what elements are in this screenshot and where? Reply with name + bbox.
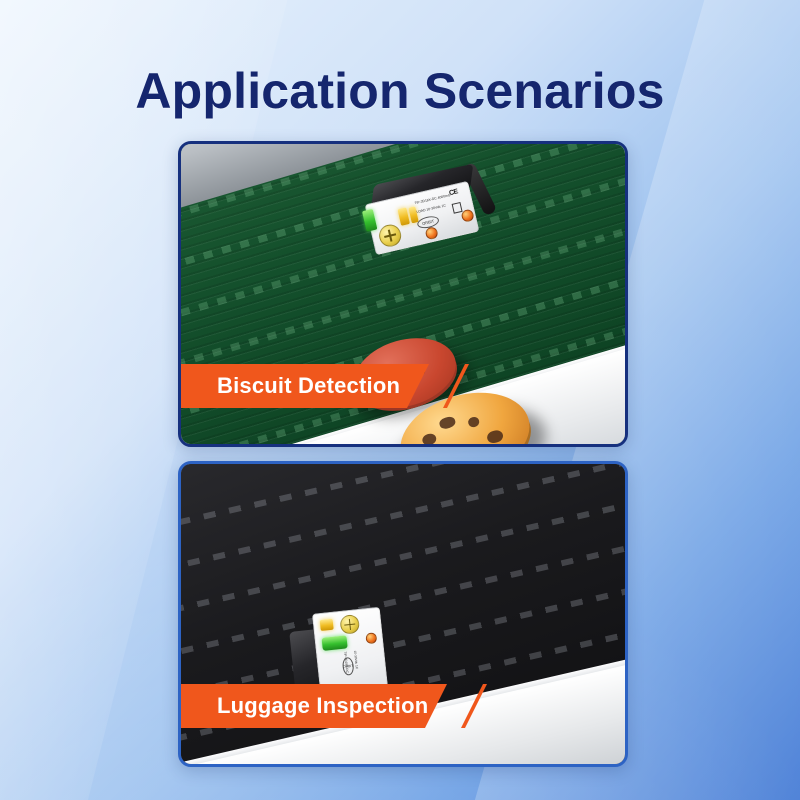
page-title: Application Scenarios (0, 62, 800, 120)
ce-mark-icon: CE (448, 188, 458, 197)
green-led-indicator (322, 635, 348, 651)
sensitivity-dial[interactable] (377, 222, 403, 248)
card-label-banner-biscuit: Biscuit Detection (181, 364, 625, 408)
photoelectric-sensor: TIP-3D18X-DC 4000m/s LOAD 10-30Vdc 1C OR… (369, 166, 489, 252)
sensor-label-line-2: LOAD 10-30Vdc 1C (416, 203, 446, 214)
sensor-label-line-2: 10-30Vdc 1C (353, 650, 359, 669)
scenario-card-luggage-inspection[interactable]: TIP-3D18X-DC 10-30Vdc 1C ORBIT CE Luggag… (178, 461, 628, 767)
sensitivity-dial[interactable] (339, 614, 360, 635)
sensor-brand-mark: ORBIT (342, 657, 355, 676)
card-label-text: Biscuit Detection (181, 373, 400, 399)
mounting-screw (424, 226, 438, 240)
card-label-text: Luggage Inspection (181, 693, 428, 719)
mounting-screw (365, 632, 377, 644)
banner-shape: Luggage Inspection (181, 684, 447, 728)
banner-accent-stripe (461, 684, 487, 728)
scenario-card-biscuit-detection[interactable]: TIP-3D18X-DC 4000m/s LOAD 10-30Vdc 1C OR… (178, 141, 628, 447)
sensor-brand-mark: ORBIT (416, 214, 440, 230)
card-label-banner-luggage: Luggage Inspection (181, 684, 625, 728)
banner-shape: Biscuit Detection (181, 364, 429, 408)
yellow-led-indicator (320, 619, 334, 631)
application-scenarios-banner: Application Scenarios (0, 0, 800, 800)
banner-accent-stripe (443, 364, 469, 408)
housing-symbol-icon (452, 202, 463, 214)
